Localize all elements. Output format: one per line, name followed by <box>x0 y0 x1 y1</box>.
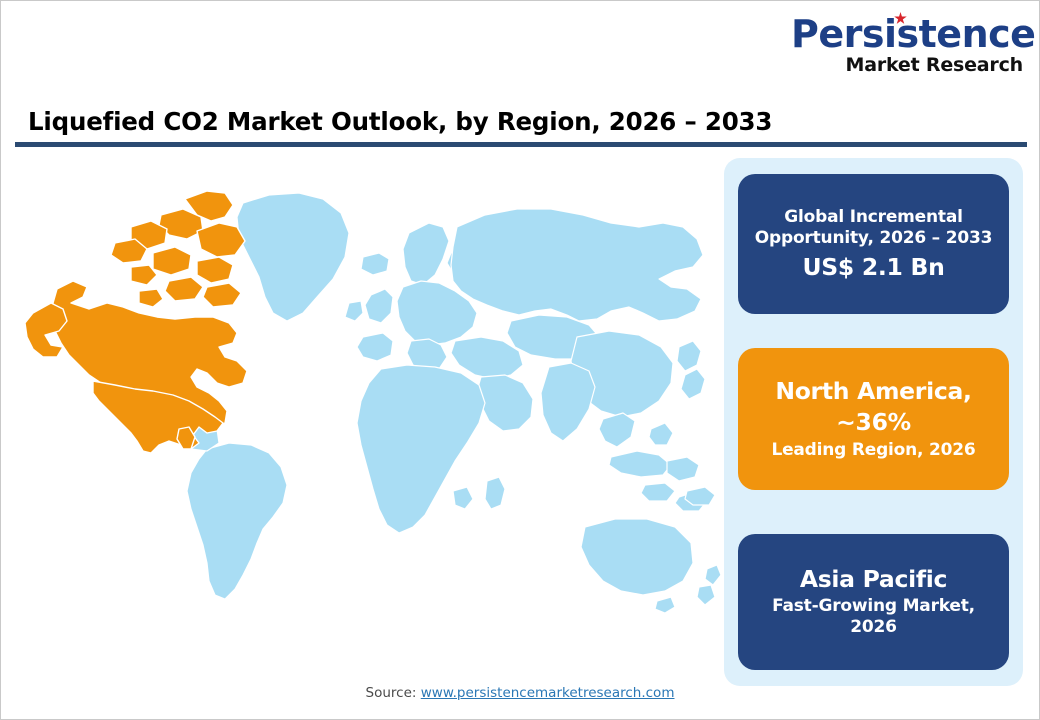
card3-line2: Fast-Growing Market, <box>772 596 975 618</box>
card2-line2: ~36% <box>836 407 911 438</box>
card-global-incremental-opportunity[interactable]: Global Incremental Opportunity, 2026 – 2… <box>738 174 1009 314</box>
card2-caption: Leading Region, 2026 <box>771 440 975 462</box>
source-label: Source: <box>366 685 421 701</box>
world-map <box>11 161 723 673</box>
card1-value: US$ 2.1 Bn <box>803 253 945 282</box>
card2-line1: North America, <box>775 376 971 407</box>
card3-line3: 2026 <box>850 617 897 639</box>
logo-tagline: Market Research <box>791 56 1023 75</box>
company-logo: Persistence Market Research <box>791 15 1023 75</box>
card3-line1: Asia Pacific <box>800 565 947 594</box>
card-leading-region[interactable]: North America, ~36% Leading Region, 2026 <box>738 348 1009 490</box>
page-title: Liquefied CO2 Market Outlook, by Region,… <box>28 107 772 136</box>
card-fast-growing-market[interactable]: Asia Pacific Fast-Growing Market, 2026 <box>738 534 1009 670</box>
title-divider <box>15 142 1027 147</box>
logo-brand-text: Persistence <box>791 15 1035 53</box>
stats-panel: Global Incremental Opportunity, 2026 – 2… <box>724 158 1023 686</box>
map-region-north-america <box>25 191 247 453</box>
source-line: Source: www.persistencemarketresearch.co… <box>1 685 1039 701</box>
infographic-page: Persistence Market Research Liquefied CO… <box>0 0 1040 720</box>
card1-line2: Opportunity, 2026 – 2033 <box>755 228 992 250</box>
card1-line1: Global Incremental <box>784 207 962 229</box>
source-link[interactable]: www.persistencemarketresearch.com <box>421 685 675 701</box>
logo-brand-label: Persistence <box>791 12 1035 56</box>
